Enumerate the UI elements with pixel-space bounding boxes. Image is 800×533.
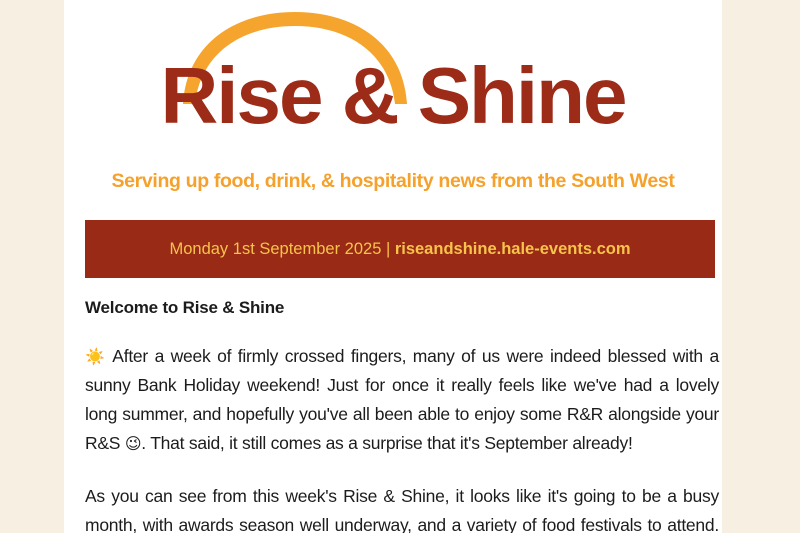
winking-face-emoji: 😉	[125, 434, 141, 453]
issue-date: Monday 1st September 2025 |	[169, 240, 394, 258]
paragraph-intro: ☀️ After a week of firmly crossed finger…	[85, 342, 719, 458]
welcome-heading: Welcome to Rise & Shine	[85, 296, 719, 320]
newsletter-url-link[interactable]: riseandshine.hale-events.com	[395, 240, 631, 258]
brand-tagline: Serving up food, drink, & hospitality ne…	[64, 168, 722, 194]
masthead: Rise & Shine Serving up food, drink, & h…	[64, 0, 722, 208]
sun-emoji: ☀️	[85, 347, 107, 366]
brand-title: Rise & Shine	[64, 48, 722, 144]
paragraph-outlook: As you can see from this week's Rise & S…	[85, 482, 719, 533]
newsletter-page: Rise & Shine Serving up food, drink, & h…	[0, 0, 800, 533]
date-bar-text: Monday 1st September 2025 | riseandshine…	[169, 239, 630, 259]
article-body: Welcome to Rise & Shine ☀️ After a week …	[85, 296, 719, 533]
paragraph-intro-text-b: . That said, it still comes as a surpris…	[141, 433, 632, 453]
email-body-card: Rise & Shine Serving up food, drink, & h…	[64, 0, 722, 533]
date-url-bar: Monday 1st September 2025 | riseandshine…	[85, 220, 715, 278]
